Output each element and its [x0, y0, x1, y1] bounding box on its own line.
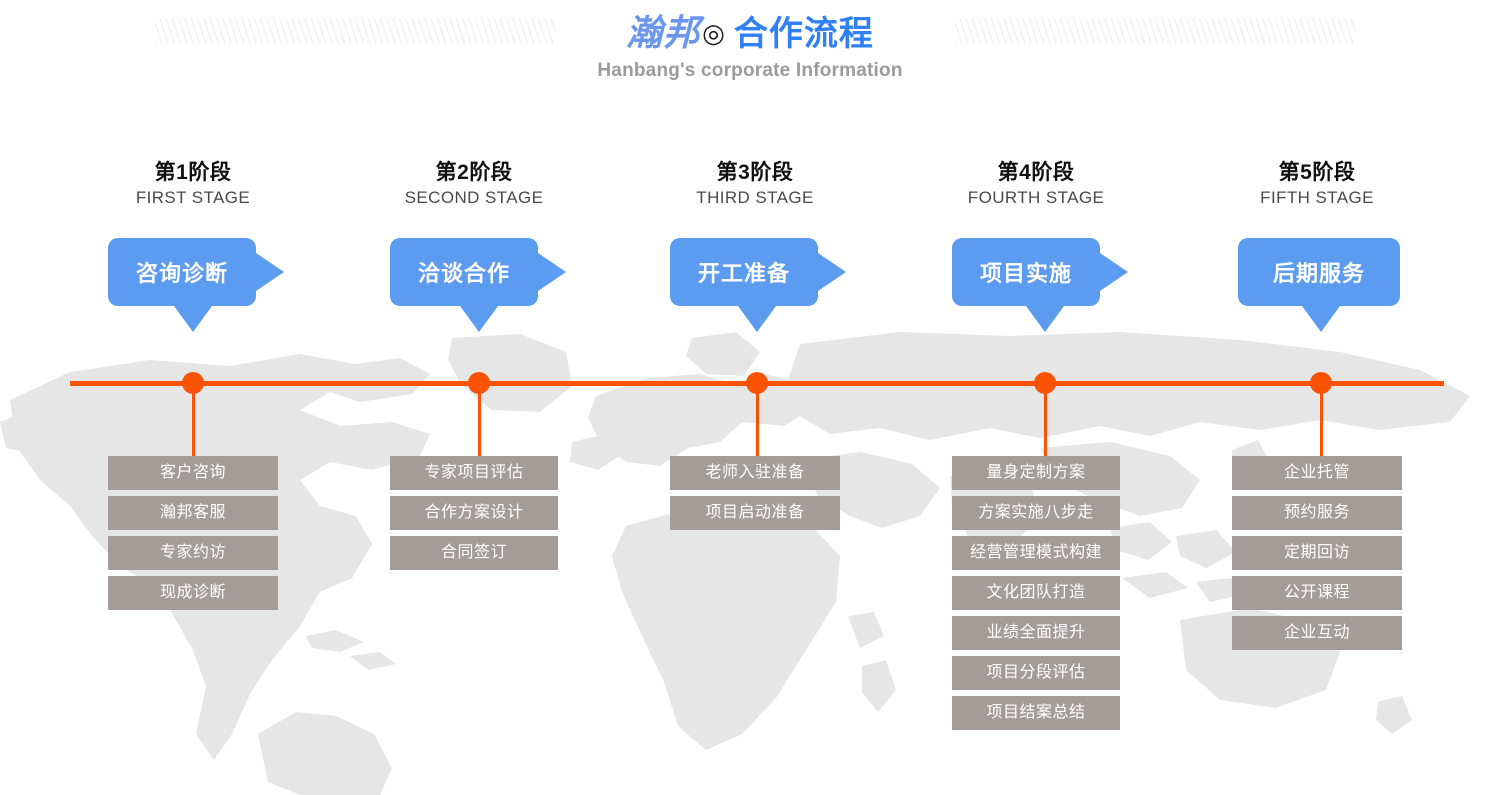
- stage-item-list-3: 老师入驻准备项目启动准备: [670, 456, 840, 536]
- bubble-tail-icon: [1302, 306, 1340, 332]
- stage-bubble-5[interactable]: 后期服务: [1238, 238, 1400, 306]
- stage-bubble-4[interactable]: 项目实施: [952, 238, 1100, 306]
- stage-title-cn: 第4阶段: [952, 160, 1120, 186]
- timeline-marker-2[interactable]: [468, 372, 490, 394]
- title-text: 合作流程: [734, 15, 874, 53]
- stage-title-en: FIFTH STAGE: [1232, 186, 1402, 210]
- stage-heading-4: 第4阶段FOURTH STAGE: [952, 160, 1120, 210]
- stage-item[interactable]: 公开课程: [1232, 576, 1402, 610]
- stage-item[interactable]: 经营管理模式构建: [952, 536, 1120, 570]
- stage-item[interactable]: 业绩全面提升: [952, 616, 1120, 650]
- stage-item-list-4: 量身定制方案方案实施八步走经营管理模式构建文化团队打造业绩全面提升项目分段评估项…: [952, 456, 1120, 736]
- stage-item[interactable]: 预约服务: [1232, 496, 1402, 530]
- stage-title-cn: 第1阶段: [108, 160, 278, 186]
- stage-item[interactable]: 量身定制方案: [952, 456, 1120, 490]
- stage-bubble-2[interactable]: 洽谈合作: [390, 238, 538, 306]
- stage-item[interactable]: 专家约访: [108, 536, 278, 570]
- bubble-right-arrow-icon: [1100, 253, 1128, 291]
- brand-name: 瀚邦: [626, 13, 700, 53]
- stage-item-list-2: 专家项目评估合作方案设计合同签订: [390, 456, 558, 576]
- stage-item[interactable]: 客户咨询: [108, 456, 278, 490]
- bubble-tail-icon: [460, 306, 498, 332]
- stage-item[interactable]: 定期回访: [1232, 536, 1402, 570]
- stage-heading-1: 第1阶段FIRST STAGE: [108, 160, 278, 210]
- page-title: 瀚邦◎合作流程: [0, 10, 1500, 57]
- stage-item[interactable]: 项目分段评估: [952, 656, 1120, 690]
- stage-title-en: THIRD STAGE: [670, 186, 840, 210]
- stage-heading-2: 第2阶段SECOND STAGE: [390, 160, 558, 210]
- stage-item[interactable]: 老师入驻准备: [670, 456, 840, 490]
- stage-bubble-label: 咨询诊断: [136, 256, 228, 288]
- stage-item[interactable]: 合作方案设计: [390, 496, 558, 530]
- page-header: 瀚邦◎合作流程 Hanbang's corporate Information: [0, 0, 1500, 120]
- stage-bubble-label: 开工准备: [698, 256, 790, 288]
- stage-title-en: FOURTH STAGE: [952, 186, 1120, 210]
- stage-item[interactable]: 瀚邦客服: [108, 496, 278, 530]
- stage-title-cn: 第3阶段: [670, 160, 840, 186]
- timeline-marker-1[interactable]: [182, 372, 204, 394]
- stage-item[interactable]: 项目启动准备: [670, 496, 840, 530]
- bubble-tail-icon: [738, 306, 776, 332]
- stage-item[interactable]: 文化团队打造: [952, 576, 1120, 610]
- stage-heading-3: 第3阶段THIRD STAGE: [670, 160, 840, 210]
- stage-bubble-label: 项目实施: [980, 256, 1072, 288]
- timeline-marker-4[interactable]: [1034, 372, 1056, 394]
- page-subtitle: Hanbang's corporate Information: [0, 60, 1500, 82]
- stage-title-en: SECOND STAGE: [390, 186, 558, 210]
- bubble-tail-icon: [1026, 306, 1064, 332]
- bubble-right-arrow-icon: [538, 253, 566, 291]
- stage-item[interactable]: 合同签订: [390, 536, 558, 570]
- stage-bubble-3[interactable]: 开工准备: [670, 238, 818, 306]
- timeline-marker-3[interactable]: [746, 372, 768, 394]
- stage-item[interactable]: 企业互动: [1232, 616, 1402, 650]
- stage-item[interactable]: 现成诊断: [108, 576, 278, 610]
- circle-mark-icon: ◎: [702, 18, 726, 48]
- stage-item[interactable]: 专家项目评估: [390, 456, 558, 490]
- bubble-tail-icon: [174, 306, 212, 332]
- stage-item-list-5: 企业托管预约服务定期回访公开课程企业互动: [1232, 456, 1402, 656]
- stage-item[interactable]: 企业托管: [1232, 456, 1402, 490]
- stage-bubble-label: 后期服务: [1273, 256, 1365, 288]
- stage-item-list-1: 客户咨询瀚邦客服专家约访现成诊断: [108, 456, 278, 616]
- stage-heading-5: 第5阶段FIFTH STAGE: [1232, 160, 1402, 210]
- bubble-right-arrow-icon: [256, 253, 284, 291]
- stage-bubble-label: 洽谈合作: [418, 256, 510, 288]
- timeline-marker-5[interactable]: [1310, 372, 1332, 394]
- stage-title-cn: 第5阶段: [1232, 160, 1402, 186]
- stage-bubble-1[interactable]: 咨询诊断: [108, 238, 256, 306]
- stage-title-cn: 第2阶段: [390, 160, 558, 186]
- bubble-right-arrow-icon: [818, 253, 846, 291]
- stage-item[interactable]: 方案实施八步走: [952, 496, 1120, 530]
- stage-item[interactable]: 项目结案总结: [952, 696, 1120, 730]
- stage-title-en: FIRST STAGE: [108, 186, 278, 210]
